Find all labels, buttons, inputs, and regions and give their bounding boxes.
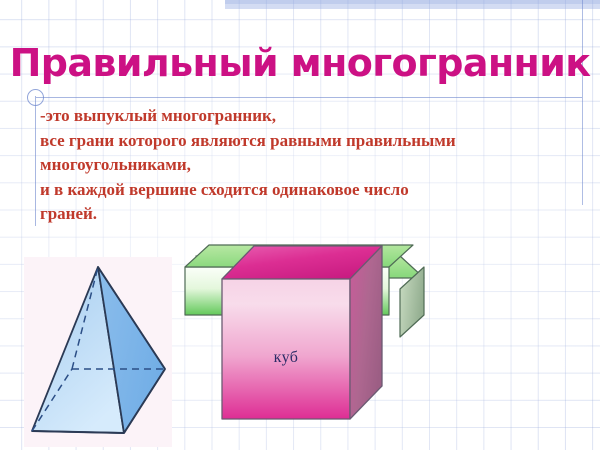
definition-line-5: граней. [40,202,586,227]
pyramid-illustration [24,257,172,447]
definition-line-4: и в каждой вершине сходится одинаковое ч… [40,178,586,203]
cube-label: куб [243,349,329,367]
top-blue-band-accent [225,0,600,4]
definition-line-2: все грани которого являются равными прав… [40,129,586,154]
definition-line-1: -это выпуклый многогранник, [40,104,586,129]
definition-text: -это выпуклый многогранник, все грани ко… [40,104,586,227]
square-pyramid-icon [24,257,172,447]
page-title: Правильный многогранник [0,41,600,85]
definition-line-3: многоугольниками, [40,153,586,178]
cube-and-box-illustration [172,234,428,434]
horizontal-rule [36,97,582,98]
left-margin-rule [35,96,36,226]
slide-canvas: Правильный многогранник -это выпуклый мн… [0,0,600,450]
